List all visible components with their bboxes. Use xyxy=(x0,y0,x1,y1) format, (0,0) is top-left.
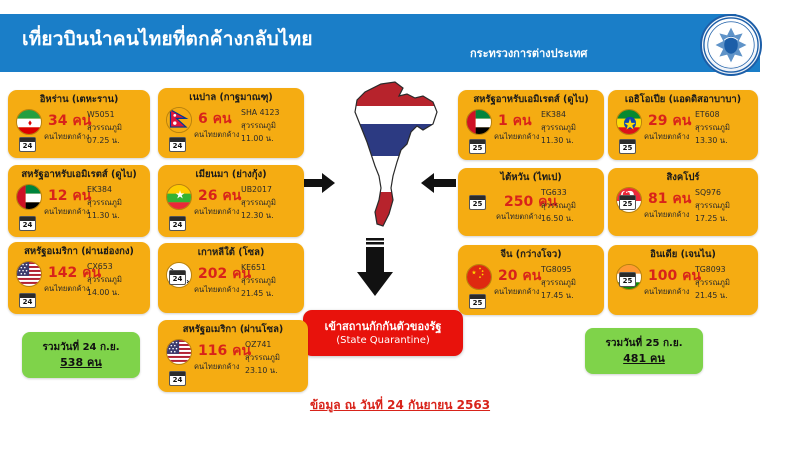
card-body: 2529 คนคนไทยตกค้างET608สุวรรณภูมิ13.30 น… xyxy=(614,107,752,151)
calendar-day-number: 25 xyxy=(623,144,633,153)
total-sept25-value: 481 คน xyxy=(623,351,665,366)
card-body: 2434 คนคนไทยตกค้างW5051สุวรรณภูมิ07.25 น… xyxy=(14,107,144,151)
thailand-map-icon xyxy=(337,80,447,230)
total-sept24-label: รวมวันที่ 24 ก.ย. xyxy=(42,340,119,355)
calendar-day-number: 25 xyxy=(473,200,483,209)
calendar-day-icon: 25 xyxy=(619,272,636,287)
flight-card-uae-dubai-25: สหรัฐอาหรับเอมิเรตส์ (ดูไบ)251 คนคนไทยตก… xyxy=(458,90,604,160)
arrival-airport: สุวรรณภูมิ xyxy=(541,199,597,212)
stranded-label: คนไทยตกค้าง xyxy=(494,131,540,143)
flight-number: CX653 xyxy=(87,260,143,273)
card-body: 2412 คนคนไทยตกค้างEK384สุวรรณภูมิ11.30 น… xyxy=(14,182,144,226)
flight-number: ET608 xyxy=(695,108,751,121)
calendar-day-number: 24 xyxy=(173,275,183,284)
arrow-down-icon xyxy=(355,238,395,300)
arrival-time: 11.30 น. xyxy=(541,134,597,147)
arrival-airport: สุวรรณภูมิ xyxy=(695,121,751,134)
arrival-time: 11.00 น. xyxy=(241,132,297,145)
card-title: สิงคโปร์ xyxy=(614,172,752,183)
passenger-count: 20 คน xyxy=(498,265,541,287)
calendar-day-icon: 25 xyxy=(469,195,486,210)
arrival-airport: สุวรรณภูมิ xyxy=(87,121,143,134)
garuda-emblem-icon xyxy=(700,14,762,76)
calendar-day-icon: 24 xyxy=(169,371,186,386)
flag-uae-icon xyxy=(466,109,492,135)
card-title: เนปาล (กาฐมาณฑุ) xyxy=(164,92,298,103)
card-title: ไต้หวัน (ไทเป) xyxy=(464,172,598,183)
calendar-day-number: 25 xyxy=(623,200,633,209)
flight-card-ethiopia-addis-ababa: เอธิโอเปีย (แอดดิสอาบาบา)2529 คนคนไทยตกค… xyxy=(608,90,758,160)
card-body: 246 คนคนไทยตกค้างSHA 4123สุวรรณภูมิ11.00… xyxy=(164,105,298,149)
total-sept25-label: รวมวันที่ 25 ก.ย. xyxy=(605,336,682,351)
card-title: สหรัฐอเมริกา (ผ่านฮ่องกง) xyxy=(14,246,144,257)
footer-note: ข้อมูล ณ วันที่ 24 กันยายน 2563 xyxy=(0,396,800,415)
card-body: 24202 คนคนไทยตกค้างKE651สุวรรณภูมิ21.45 … xyxy=(164,260,298,304)
calendar-day-icon: 25 xyxy=(619,139,636,154)
card-meta: SHA 4123สุวรรณภูมิ11.00 น. xyxy=(241,106,297,145)
card-title: สหรัฐอาหรับเอมิเรตส์ (ดูไบ) xyxy=(14,169,144,180)
flight-card-taiwan-taipei: ไต้หวัน (ไทเป)25250 คนคนไทยตกค้างTG633สุ… xyxy=(458,168,604,236)
card-body: 25250 คนคนไทยตกค้างTG633สุวรรณภูมิ16.50 … xyxy=(464,185,598,229)
infographic-root: เที่ยวบินนำคนไทยที่ตกค้างกลับไทย กระทรวง… xyxy=(0,0,800,450)
arrival-time: 07.25 น. xyxy=(87,134,143,147)
flag-myanmar-icon xyxy=(166,184,192,210)
quarantine-label-th: เข้าสถานกักกันตัวของรัฐ xyxy=(325,319,442,334)
passenger-count: 1 คน xyxy=(498,110,532,132)
passenger-count: 116 คน xyxy=(198,340,251,362)
total-sept25-box: รวมวันที่ 25 ก.ย. 481 คน xyxy=(585,328,703,374)
flag-usa-icon xyxy=(166,339,192,365)
flag-china-icon xyxy=(466,264,492,290)
flight-card-usa-via-seoul: สหรัฐอเมริกา (ผ่านโซล)24116 คนคนไทยตกค้า… xyxy=(158,320,308,392)
arrow-right-pointing-left-group xyxy=(300,172,336,194)
arrival-airport: สุวรรณภูมิ xyxy=(541,276,597,289)
arrival-time: 23.10 น. xyxy=(245,364,301,377)
passenger-count: 34 คน xyxy=(48,110,91,132)
flight-card-south-korea-seoul: เกาหลีใต้ (โซล)24202 คนคนไทยตกค้างKE651ส… xyxy=(158,243,304,313)
flight-number: TG8093 xyxy=(695,263,751,276)
total-sept24-box: รวมวันที่ 24 ก.ย. 538 คน xyxy=(22,332,140,378)
arrival-airport: สุวรรณภูมิ xyxy=(241,196,297,209)
calendar-day-number: 24 xyxy=(173,221,183,230)
flight-number: EK384 xyxy=(541,108,597,121)
flag-iran-icon xyxy=(16,109,42,135)
card-body: 2520 คนคนไทยตกค้างTG8095สุวรรณภูมิ17.45 … xyxy=(464,262,598,306)
card-body: 251 คนคนไทยตกค้างEK384สุวรรณภูมิ11.30 น. xyxy=(464,107,598,151)
flag-nepal-icon xyxy=(166,107,192,133)
card-title: สหรัฐอาหรับเอมิเรตส์ (ดูไบ) xyxy=(464,94,598,105)
card-body: 2581 คนคนไทยตกค้างSQ976สุวรรณภูมิ17.25 น… xyxy=(614,185,752,229)
flight-card-uae-dubai-24: สหรัฐอาหรับเอมิเรตส์ (ดูไบ)2412 คนคนไทยต… xyxy=(8,165,150,237)
page-title: เที่ยวบินนำคนไทยที่ตกค้างกลับไทย xyxy=(22,24,313,54)
arrival-time: 17.25 น. xyxy=(695,212,751,225)
state-quarantine-box: เข้าสถานกักกันตัวของรัฐ (State Quarantin… xyxy=(303,310,463,356)
card-meta: TG8095สุวรรณภูมิ17.45 น. xyxy=(541,263,597,302)
arrival-time: 13.30 น. xyxy=(695,134,751,147)
flag-usa-icon xyxy=(16,261,42,287)
flight-card-india-chennai: อินเดีย (เจนไน)25100 คนคนไทยตกค้างTG8093… xyxy=(608,245,758,315)
calendar-day-icon: 24 xyxy=(19,216,36,231)
stranded-label: คนไทยตกค้าง xyxy=(44,283,90,295)
card-title: อิหร่าน (เตหะราน) xyxy=(14,94,144,105)
card-meta: CX653สุวรรณภูมิ14.00 น. xyxy=(87,260,143,299)
flight-number: KE651 xyxy=(241,261,297,274)
flag-ethiopia-icon xyxy=(616,109,642,135)
arrival-airport: สุวรรณภูมิ xyxy=(695,199,751,212)
card-meta: TG633สุวรรณภูมิ16.50 น. xyxy=(541,186,597,225)
arrival-airport: สุวรรณภูมิ xyxy=(87,196,143,209)
card-meta: SQ976สุวรรณภูมิ17.25 น. xyxy=(695,186,751,225)
flight-number: UB2017 xyxy=(241,183,297,196)
card-meta: TG8093สุวรรณภูมิ21.45 น. xyxy=(695,263,751,302)
calendar-day-icon: 24 xyxy=(169,270,186,285)
card-title: สหรัฐอเมริกา (ผ่านโซล) xyxy=(164,324,302,335)
card-title: อินเดีย (เจนไน) xyxy=(614,249,752,260)
flight-number: EK384 xyxy=(87,183,143,196)
stranded-label: คนไทยตกค้าง xyxy=(194,206,240,218)
arrival-airport: สุวรรณภูมิ xyxy=(541,121,597,134)
arrival-time: 16.50 น. xyxy=(541,212,597,225)
flight-number: SQ976 xyxy=(695,186,751,199)
calendar-day-number: 24 xyxy=(23,142,33,151)
calendar-day-number: 24 xyxy=(173,142,183,151)
card-body: 24142 คนคนไทยตกค้างCX653สุวรรณภูมิ14.00 … xyxy=(14,259,144,303)
card-title: จีน (กว่างโจว) xyxy=(464,249,598,260)
calendar-day-number: 25 xyxy=(473,144,483,153)
passenger-count: 81 คน xyxy=(648,188,691,210)
calendar-day-number: 25 xyxy=(623,277,633,286)
passenger-count: 12 คน xyxy=(48,185,91,207)
arrival-time: 11.30 น. xyxy=(87,209,143,222)
flight-card-singapore: สิงคโปร์2581 คนคนไทยตกค้างSQ976สุวรรณภูม… xyxy=(608,168,758,236)
flight-number: OZ741 xyxy=(245,338,301,351)
card-meta: UB2017สุวรรณภูมิ12.30 น. xyxy=(241,183,297,222)
passenger-count: 100 คน xyxy=(648,265,701,287)
card-body: 24116 คนคนไทยตกค้างOZ741สุวรรณภูมิ23.10 … xyxy=(164,337,302,381)
stranded-label: คนไทยตกค้าง xyxy=(194,361,240,373)
card-meta: OZ741สุวรรณภูมิ23.10 น. xyxy=(245,338,301,377)
stranded-label: คนไทยตกค้าง xyxy=(44,131,90,143)
flight-card-myanmar-yangon: เมียนมา (ย่างกุ้ง)2426 คนคนไทยตกค้างUB20… xyxy=(158,165,304,237)
flag-uae-icon xyxy=(16,184,42,210)
calendar-day-icon: 24 xyxy=(19,137,36,152)
calendar-day-icon: 24 xyxy=(19,293,36,308)
calendar-day-icon: 24 xyxy=(169,216,186,231)
arrival-airport: สุวรรณภูมิ xyxy=(245,351,301,364)
stranded-label: คนไทยตกค้าง xyxy=(194,129,240,141)
stranded-label: คนไทยตกค้าง xyxy=(44,206,90,218)
calendar-day-icon: 25 xyxy=(469,139,486,154)
calendar-day-number: 24 xyxy=(173,376,183,385)
calendar-day-icon: 25 xyxy=(619,195,636,210)
stranded-label: คนไทยตกค้าง xyxy=(644,131,690,143)
card-meta: ET608สุวรรณภูมิ13.30 น. xyxy=(695,108,751,147)
total-sept24-value: 538 คน xyxy=(60,355,102,370)
card-meta: EK384สุวรรณภูมิ11.30 น. xyxy=(541,108,597,147)
arrival-time: 14.00 น. xyxy=(87,286,143,299)
quarantine-label-en: (State Quarantine) xyxy=(336,334,430,348)
card-title: เอธิโอเปีย (แอดดิสอาบาบา) xyxy=(614,94,752,105)
card-body: 25100 คนคนไทยตกค้างTG8093สุวรรณภูมิ21.45… xyxy=(614,262,752,306)
stranded-label: คนไทยตกค้าง xyxy=(644,209,690,221)
ministry-label: กระทรวงการต่างประเทศ xyxy=(470,44,587,62)
arrival-airport: สุวรรณภูมิ xyxy=(241,119,297,132)
card-meta: EK384สุวรรณภูมิ11.30 น. xyxy=(87,183,143,222)
card-title: เมียนมา (ย่างกุ้ง) xyxy=(164,169,298,180)
calendar-day-number: 24 xyxy=(23,298,33,307)
passenger-count: 29 คน xyxy=(648,110,691,132)
passenger-count: 6 คน xyxy=(198,108,232,130)
flight-number: W5051 xyxy=(87,108,143,121)
calendar-day-number: 25 xyxy=(473,299,483,308)
flight-card-china-guangzhou: จีน (กว่างโจว)2520 คนคนไทยตกค้างTG8095สุ… xyxy=(458,245,604,315)
calendar-day-number: 24 xyxy=(23,221,33,230)
flight-card-iran-tehran: อิหร่าน (เตหะราน)2434 คนคนไทยตกค้างW5051… xyxy=(8,90,150,158)
flight-card-usa-via-hongkong: สหรัฐอเมริกา (ผ่านฮ่องกง)24142 คนคนไทยตก… xyxy=(8,242,150,314)
card-meta: W5051สุวรรณภูมิ07.25 น. xyxy=(87,108,143,147)
arrival-time: 12.30 น. xyxy=(241,209,297,222)
card-title: เกาหลีใต้ (โซล) xyxy=(164,247,298,258)
arrival-time: 21.45 น. xyxy=(695,289,751,302)
arrow-left-pointing-right-group xyxy=(420,172,456,194)
flight-number: TG633 xyxy=(541,186,597,199)
calendar-day-icon: 25 xyxy=(469,294,486,309)
arrival-airport: สุวรรณภูมิ xyxy=(241,274,297,287)
card-body: 2426 คนคนไทยตกค้างUB2017สุวรรณภูมิ12.30 … xyxy=(164,182,298,226)
stranded-label: คนไทยตกค้าง xyxy=(194,284,240,296)
arrival-airport: สุวรรณภูมิ xyxy=(87,273,143,286)
calendar-day-icon: 24 xyxy=(169,137,186,152)
card-meta: KE651สุวรรณภูมิ21.45 น. xyxy=(241,261,297,300)
arrival-time: 21.45 น. xyxy=(241,287,297,300)
flight-number: SHA 4123 xyxy=(241,106,297,119)
arrival-time: 17.45 น. xyxy=(541,289,597,302)
arrival-airport: สุวรรณภูมิ xyxy=(695,276,751,289)
stranded-label: คนไทยตกค้าง xyxy=(644,286,690,298)
flight-card-nepal-kathmandu: เนปาล (กาฐมาณฑุ)246 คนคนไทยตกค้างSHA 412… xyxy=(158,88,304,158)
stranded-label: คนไทยตกค้าง xyxy=(496,211,542,223)
flight-number: TG8095 xyxy=(541,263,597,276)
stranded-label: คนไทยตกค้าง xyxy=(494,286,540,298)
passenger-count: 26 คน xyxy=(198,185,241,207)
